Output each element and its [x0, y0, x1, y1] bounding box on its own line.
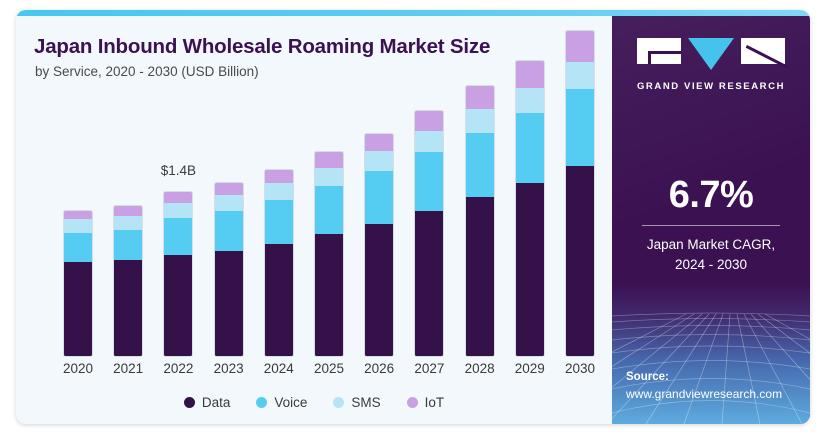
bar-segment-data[interactable] [365, 224, 393, 356]
stacked-bar[interactable] [164, 192, 192, 356]
bar-segment-sms[interactable] [315, 168, 343, 187]
legend-swatch-data-icon [184, 397, 195, 408]
cagr-caption-line1: Japan Market CAGR, [612, 235, 810, 255]
legend-label: Data [202, 395, 231, 410]
chart-legend: DataVoiceSMSIoT [16, 395, 612, 410]
bar-segment-data[interactable] [114, 260, 142, 356]
bar-segment-sms[interactable] [215, 195, 243, 211]
x-axis-label-2026: 2026 [358, 361, 400, 376]
bar-group-2028[interactable]: 2028 [466, 86, 494, 356]
perspective-grid-graphic [612, 284, 810, 424]
bar-segment-iot[interactable] [64, 211, 92, 219]
bar-segment-iot[interactable] [265, 170, 293, 183]
logo-r-icon [741, 38, 785, 64]
bar-segment-sms[interactable] [114, 216, 142, 230]
logo-v-triangle-icon [688, 38, 734, 70]
x-axis-label-2024: 2024 [258, 361, 300, 376]
x-axis-label-2025: 2025 [308, 361, 350, 376]
bar-segment-sms[interactable] [265, 183, 293, 201]
x-axis-label-2020: 2020 [57, 361, 99, 376]
brand-panel: GRAND VIEW RESEARCH 6.7% Japan Market CA… [612, 16, 810, 424]
chart-panel: Japan Inbound Wholesale Roaming Market S… [16, 16, 612, 424]
bar-segment-voice[interactable] [64, 233, 92, 262]
stacked-bar[interactable] [365, 134, 393, 356]
bar-segment-voice[interactable] [315, 186, 343, 234]
stacked-bar[interactable] [114, 206, 142, 356]
bar-segment-iot[interactable] [466, 86, 494, 109]
x-axis-label-2022: 2022 [157, 361, 199, 376]
bar-segment-data[interactable] [415, 211, 443, 356]
legend-label: IoT [425, 395, 445, 410]
x-axis-label-2021: 2021 [107, 361, 149, 376]
bar-group-2021[interactable]: 2021 [114, 206, 142, 356]
bar-segment-data[interactable] [315, 234, 343, 356]
bar-segment-iot[interactable] [566, 31, 594, 63]
legend-item-iot[interactable]: IoT [407, 395, 445, 410]
legend-item-voice[interactable]: Voice [256, 395, 307, 410]
legend-swatch-iot-icon [407, 397, 418, 408]
stacked-bar[interactable] [315, 152, 343, 356]
bar-group-2030[interactable]: 2030 [566, 31, 594, 356]
bar-group-2029[interactable]: 2029 [516, 61, 544, 356]
logo-marks [637, 38, 785, 70]
bar-segment-voice[interactable] [215, 211, 243, 251]
bar-segment-iot[interactable] [365, 134, 393, 152]
cagr-block: 6.7% Japan Market CAGR, 2024 - 2030 [612, 174, 810, 274]
stacked-bar[interactable] [265, 170, 293, 356]
legend-item-data[interactable]: Data [184, 395, 231, 410]
bar-group-2026[interactable]: 2026 [365, 134, 393, 356]
cagr-divider [642, 225, 780, 226]
stacked-bar[interactable] [516, 61, 544, 356]
bar-segment-iot[interactable] [114, 206, 142, 215]
stacked-bar[interactable] [566, 31, 594, 356]
legend-label: Voice [274, 395, 307, 410]
grand-view-research-logo: GRAND VIEW RESEARCH [612, 38, 810, 92]
bar-segment-sms[interactable] [64, 219, 92, 233]
bar-segment-data[interactable] [566, 166, 594, 356]
bar-segment-sms[interactable] [365, 151, 393, 171]
bar-segment-data[interactable] [466, 197, 494, 356]
bar-group-2024[interactable]: 2024 [265, 170, 293, 356]
bar-segment-sms[interactable] [164, 203, 192, 218]
bar-segment-data[interactable] [265, 244, 293, 356]
bar-segment-voice[interactable] [164, 218, 192, 255]
bar-group-2020[interactable]: 2020 [64, 211, 92, 356]
stacked-bar[interactable] [64, 211, 92, 356]
bar-segment-iot[interactable] [164, 192, 192, 203]
bar-segment-sms[interactable] [466, 109, 494, 132]
bar-value-label: $1.4B [138, 163, 218, 178]
bar-group-2022[interactable]: 2022$1.4B [164, 192, 192, 356]
x-axis-label-2023: 2023 [208, 361, 250, 376]
bar-segment-sms[interactable] [566, 62, 594, 89]
stacked-bar[interactable] [215, 183, 243, 356]
bar-segment-sms[interactable] [516, 88, 544, 113]
legend-swatch-sms-icon [333, 397, 344, 408]
bar-segment-data[interactable] [215, 251, 243, 356]
stacked-bar[interactable] [415, 111, 443, 356]
bar-chart-plot: 202020212022$1.4B20232024202520262027202… [16, 16, 612, 424]
bar-segment-voice[interactable] [265, 200, 293, 243]
bar-segment-voice[interactable] [114, 230, 142, 260]
bar-group-2027[interactable]: 2027 [415, 111, 443, 356]
bar-segment-voice[interactable] [365, 171, 393, 224]
bar-segment-data[interactable] [64, 262, 92, 356]
bar-group-2025[interactable]: 2025 [315, 152, 343, 356]
bar-segment-iot[interactable] [215, 183, 243, 195]
bar-segment-iot[interactable] [315, 152, 343, 167]
chart-card: Japan Inbound Wholesale Roaming Market S… [16, 10, 810, 424]
infographic-root: Japan Inbound Wholesale Roaming Market S… [0, 0, 826, 434]
x-axis-label-2027: 2027 [408, 361, 450, 376]
x-axis-label-2030: 2030 [559, 361, 601, 376]
bar-segment-data[interactable] [516, 183, 544, 356]
bar-segment-voice[interactable] [566, 89, 594, 166]
source-label: Source: [626, 370, 782, 386]
cagr-caption-line2: 2024 - 2030 [612, 255, 810, 275]
bar-segment-voice[interactable] [516, 113, 544, 183]
bar-segment-iot[interactable] [415, 111, 443, 131]
legend-item-sms[interactable]: SMS [333, 395, 380, 410]
bar-segment-iot[interactable] [516, 61, 544, 88]
bar-segment-voice[interactable] [466, 133, 494, 197]
source-block: Source: www.grandviewresearch.com [626, 370, 782, 402]
bar-segment-sms[interactable] [415, 131, 443, 152]
logo-text: GRAND VIEW RESEARCH [637, 81, 785, 92]
source-url: www.grandviewresearch.com [626, 386, 782, 402]
legend-swatch-voice-icon [256, 397, 267, 408]
x-axis-label-2029: 2029 [509, 361, 551, 376]
cagr-value: 6.7% [612, 174, 810, 217]
bar-group-2023[interactable]: 2023 [215, 183, 243, 356]
x-axis-label-2028: 2028 [459, 361, 501, 376]
bar-segment-data[interactable] [164, 255, 192, 356]
logo-g-icon [637, 38, 681, 64]
legend-label: SMS [351, 395, 380, 410]
bar-segment-voice[interactable] [415, 152, 443, 211]
stacked-bar[interactable] [466, 86, 494, 356]
